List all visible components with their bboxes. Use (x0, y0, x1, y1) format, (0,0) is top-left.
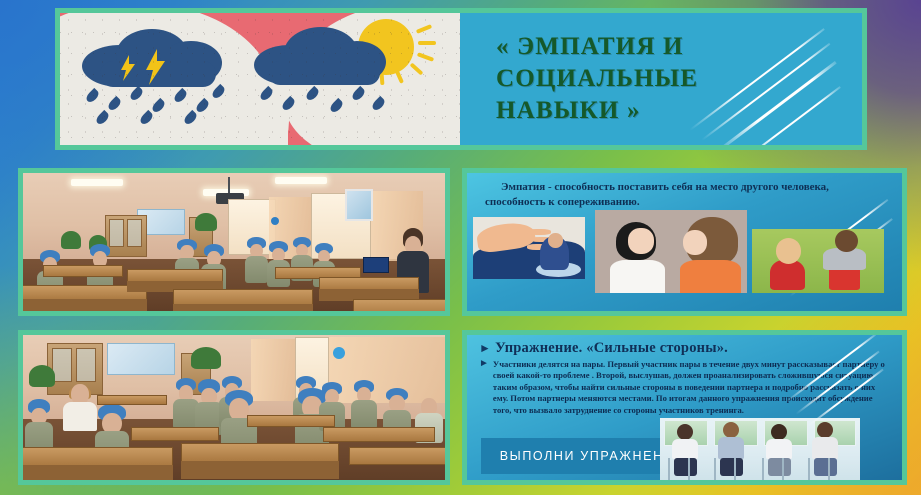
cloud-base (268, 61, 380, 85)
projector-arm (228, 177, 230, 193)
plant (29, 365, 55, 387)
student (245, 243, 268, 283)
child-head (776, 238, 801, 263)
triangle-bullet-icon: ► (479, 359, 489, 416)
participant-torso (812, 437, 838, 458)
desk (181, 443, 339, 463)
desk-side (181, 461, 339, 479)
desk (247, 415, 335, 427)
woman-body (680, 260, 741, 293)
lightning-bolt-icon (120, 55, 136, 81)
header-panel: « ЭМПАТИЯ И СОЦИАЛЬНЫЕ НАВЫКИ » (55, 8, 867, 150)
chair (808, 458, 830, 480)
chair (714, 458, 736, 480)
diagonal-streak-decoration (686, 13, 862, 145)
desk-side (173, 304, 313, 311)
two-women-comforting-illustration (595, 210, 747, 293)
plant (191, 347, 221, 369)
cabinet-glass (52, 348, 72, 382)
desk (353, 299, 445, 311)
student (351, 387, 377, 429)
desk (23, 447, 173, 467)
ceiling-light (275, 177, 327, 184)
laptop (363, 257, 389, 273)
sun-ray (418, 41, 436, 45)
exercise-heading-text: Упражнение. «Сильные стороны». (495, 340, 728, 357)
children-on-grass-photo (752, 229, 884, 293)
page-title: « ЭМПАТИЯ И СОЦИАЛЬНЫЕ НАВЫКИ » (460, 31, 698, 127)
chair (668, 458, 690, 480)
whiteboard (345, 189, 373, 221)
classroom-scene (23, 335, 445, 480)
desk (323, 427, 435, 442)
presentation-slide: « ЭМПАТИЯ И СОЦИАЛЬНЫЕ НАВЫКИ » (0, 0, 921, 495)
plant (195, 213, 217, 231)
helping-hand-illustration (473, 217, 585, 279)
student-body (351, 400, 377, 429)
participant-head (723, 422, 739, 438)
exercise-body: ► Участники делятся на пары. Первый учас… (479, 359, 892, 416)
participant-head (677, 424, 693, 440)
exercise-heading: ► Упражнение. «Сильные стороны». (479, 340, 894, 357)
ceiling-light (71, 179, 123, 186)
classroom-photo-top (18, 168, 450, 316)
participant-torso (766, 439, 792, 459)
classroom-scene (23, 173, 445, 311)
wall-poster (107, 343, 175, 375)
wall-marker (333, 347, 345, 359)
title-block: « ЭМПАТИЯ И СОЦИАЛЬНЫЕ НАВЫКИ » (460, 13, 862, 145)
participant-head (771, 424, 787, 440)
empathy-definition-text: Эмпатия - способность поставить себя на … (485, 180, 890, 209)
header-inner: « ЭМПАТИЯ И СОЦИАЛЬНЫЕ НАВЫКИ » (60, 13, 862, 145)
desk (349, 447, 445, 465)
woman-body (610, 260, 665, 293)
participant-torso (718, 437, 744, 458)
caption-text: ВЫПОЛНИ УПРАЖНЕНИЕ (500, 449, 684, 463)
woman-face (628, 228, 654, 254)
desk-side (23, 465, 173, 480)
person-head (548, 233, 563, 248)
exercise-panel: ► Упражнение. «Сильные стороны». ► Участ… (462, 330, 907, 485)
chair (762, 458, 784, 480)
adult-body (63, 402, 97, 431)
lightning-bolt-icon (144, 49, 166, 85)
classroom-photo-bottom (18, 330, 450, 485)
sun-ray (380, 73, 385, 85)
two-heads-with-storm-clouds-illustration (60, 13, 460, 145)
curtain (251, 339, 295, 401)
people-in-pairs-exercise-photo (660, 418, 860, 480)
desk (131, 427, 219, 441)
cabinet-glass (109, 219, 124, 247)
empathy-definition-panel: Эмпатия - способность поставить себя на … (462, 168, 907, 316)
child-head (835, 230, 857, 252)
adult-participant (63, 391, 97, 431)
wall-marker (271, 217, 279, 225)
desk-side (23, 299, 147, 311)
woman-face (683, 230, 707, 255)
participant-torso (672, 439, 698, 459)
finger (527, 229, 552, 235)
plant (61, 231, 81, 249)
cabinet-glass (127, 219, 142, 247)
participant-head (817, 422, 833, 438)
student-body (245, 256, 268, 283)
cabinet-glass (76, 348, 96, 382)
desk (97, 395, 167, 405)
exercise-body-text: Участники делятся на пары. Первый участн… (493, 359, 892, 416)
desk (43, 265, 123, 277)
triangle-bullet-icon: ► (479, 342, 491, 354)
child-body (770, 260, 804, 291)
